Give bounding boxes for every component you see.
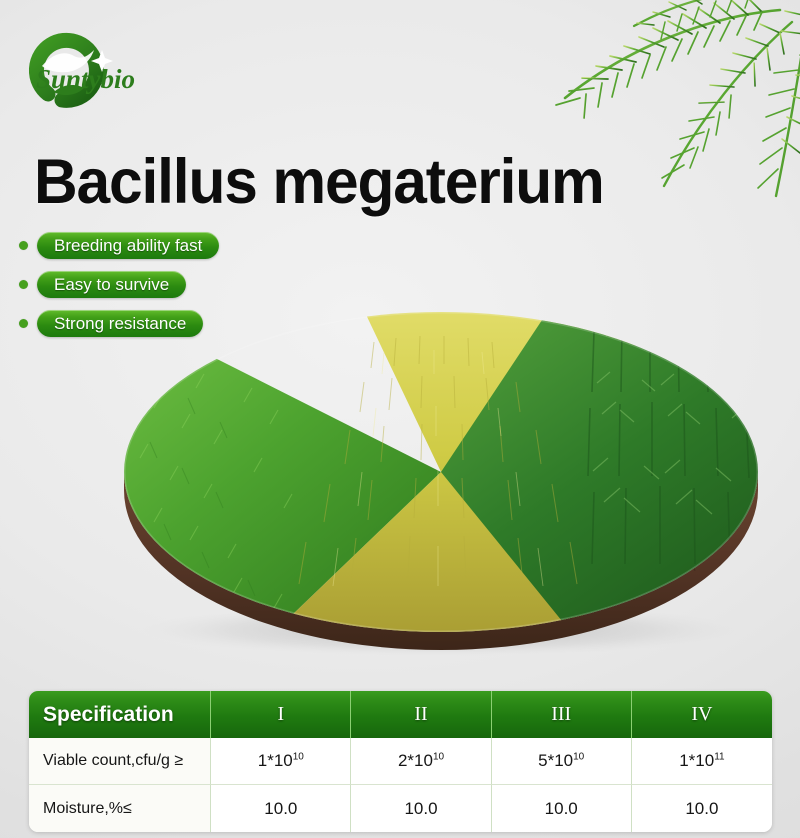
cell-moisture-4: 10.0: [632, 785, 772, 832]
row-label-moisture: Moisture,%≤: [29, 785, 211, 832]
brand-logo[interactable]: Suntybio: [18, 26, 168, 112]
list-item: Breeding ability fast: [19, 232, 219, 259]
table-row: Moisture,%≤ 10.0 10.0 10.0 10.0: [29, 785, 772, 832]
feature-pill: Breeding ability fast: [37, 232, 219, 259]
column-header-grade-3: III: [492, 691, 632, 738]
cell-moisture-3: 10.0: [492, 785, 632, 832]
cell-moisture-2: 10.0: [351, 785, 491, 832]
column-header-specification: Specification: [29, 691, 211, 738]
specification-table: Specification I II III IV Viable count,c…: [29, 691, 772, 832]
table-header-row: Specification I II III IV: [29, 691, 772, 738]
column-header-grade-4: IV: [632, 691, 772, 738]
bullet-dot-icon: [19, 241, 28, 250]
cell-viable-count-3: 5*1010: [492, 738, 632, 785]
table-row: Viable count,cfu/g ≥ 1*1010 2*1010 5*101…: [29, 738, 772, 785]
bullet-dot-icon: [19, 319, 28, 328]
crop-field-disc: [124, 312, 758, 657]
cell-viable-count-2: 2*1010: [351, 738, 491, 785]
column-header-grade-1: I: [211, 691, 351, 738]
cell-viable-count-1: 1*1010: [211, 738, 351, 785]
cell-viable-count-4: 1*1011: [632, 738, 772, 785]
cell-moisture-1: 10.0: [211, 785, 351, 832]
feature-pill: Easy to survive: [37, 271, 186, 298]
list-item: Easy to survive: [19, 271, 219, 298]
page-title: Bacillus megaterium: [34, 146, 604, 218]
logo-wordmark: Suntybio: [36, 64, 135, 94]
bullet-dot-icon: [19, 280, 28, 289]
row-label-viable-count: Viable count,cfu/g ≥: [29, 738, 211, 785]
product-banner: Suntybio Bacillus megaterium Breeding ab…: [0, 0, 800, 838]
column-header-grade-2: II: [351, 691, 491, 738]
